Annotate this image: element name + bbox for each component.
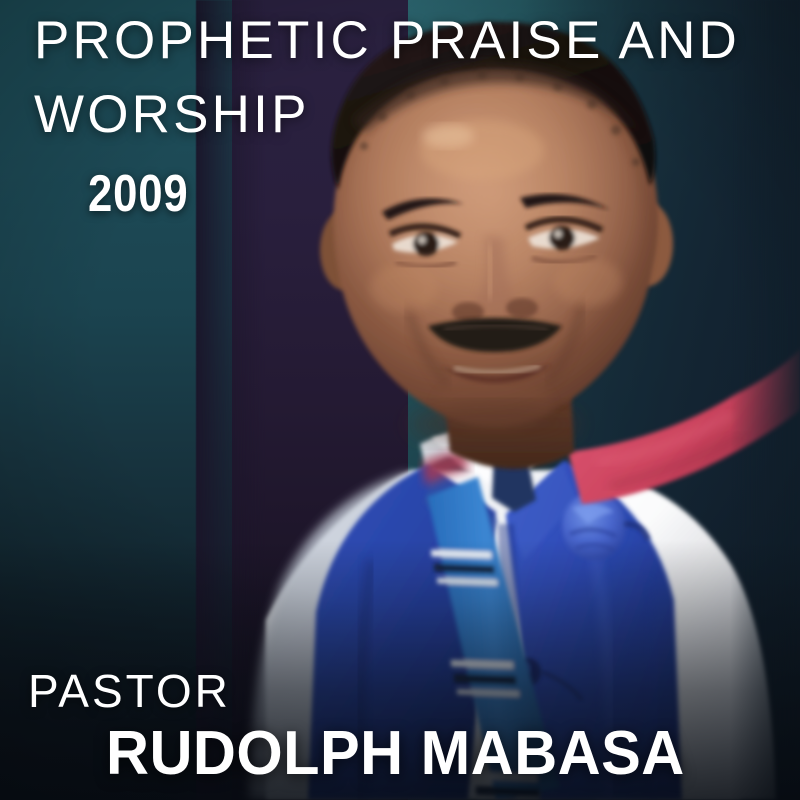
pastor-label: PASTOR [28, 664, 231, 718]
poster-title-line-1: PROPHETIC PRAISE AND [34, 14, 740, 67]
poster-year: 2009 [88, 164, 189, 224]
poster-canvas: PROPHETIC PRAISE AND WORSHIP 2009 PASTOR… [0, 0, 800, 800]
poster-title-line-2: WORSHIP [34, 88, 310, 141]
pastor-name: RUDOLPH MABASA [106, 718, 685, 789]
